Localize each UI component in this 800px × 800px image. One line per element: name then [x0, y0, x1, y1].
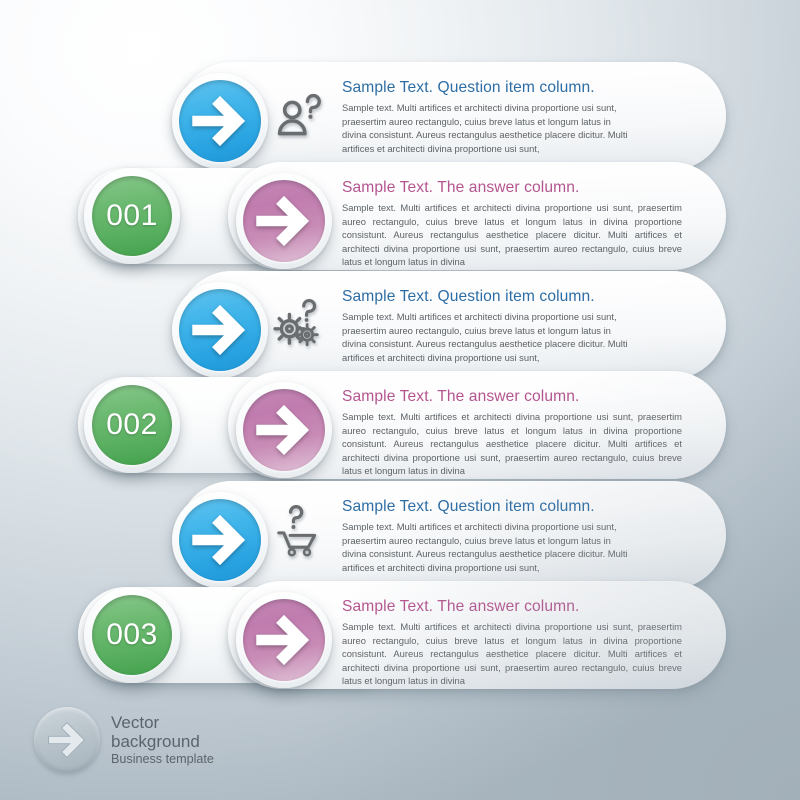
number-label-1: 001 — [106, 199, 158, 233]
question-arrow-disc-3 — [179, 499, 261, 581]
answer-body-1: Sample text. Multi artifices et architec… — [342, 201, 682, 269]
answer-arrow-badge-1[interactable] — [236, 173, 332, 269]
question-heading-2: Sample Text. Question item column. — [342, 288, 632, 306]
answer-arrow-disc-2 — [243, 389, 325, 471]
answer-arrow-disc-3 — [243, 599, 325, 681]
logo-line-3: Business template — [111, 751, 214, 768]
arrow-right-icon — [251, 188, 317, 254]
number-badge-disc-1: 001 — [92, 176, 172, 256]
number-badge-disc-3: 003 — [92, 595, 172, 675]
question-heading-3: Sample Text. Question item column. — [342, 498, 632, 516]
question-text-2: Sample Text. Question item column. Sampl… — [342, 288, 632, 364]
question-body-3: Sample text. Multi artifices et architec… — [342, 520, 632, 574]
question-heading-1: Sample Text. Question item column. — [342, 79, 632, 97]
answer-arrow-badge-2[interactable] — [236, 382, 332, 478]
arrow-right-icon — [187, 297, 253, 363]
logo-circle — [34, 707, 100, 773]
person-question-icon — [272, 88, 326, 142]
question-body-1: Sample text. Multi artifices et architec… — [342, 101, 632, 155]
gears-question-icon — [270, 295, 324, 349]
logo-line-1: Vector — [111, 713, 214, 732]
arrow-right-icon — [187, 88, 253, 154]
answer-text-3: Sample Text. The answer column. Sample t… — [342, 598, 682, 688]
number-badge-3[interactable]: 003 — [84, 587, 180, 683]
answer-body-2: Sample text. Multi artifices et architec… — [342, 410, 682, 478]
number-badge-2[interactable]: 002 — [84, 377, 180, 473]
number-badge-disc-2: 002 — [92, 385, 172, 465]
answer-arrow-disc-1 — [243, 180, 325, 262]
arrow-right-icon — [187, 507, 253, 573]
arrow-right-icon — [251, 607, 317, 673]
answer-body-3: Sample text. Multi artifices et architec… — [342, 620, 682, 688]
infographic-canvas: Sample Text. Question item column. Sampl… — [0, 0, 800, 800]
answer-heading-2: Sample Text. The answer column. — [342, 388, 682, 406]
question-arrow-badge-3[interactable] — [172, 492, 268, 588]
answer-heading-1: Sample Text. The answer column. — [342, 179, 682, 197]
question-text-1: Sample Text. Question item column. Sampl… — [342, 79, 632, 155]
question-arrow-badge-1[interactable] — [172, 73, 268, 169]
answer-arrow-badge-3[interactable] — [236, 592, 332, 688]
question-text-3: Sample Text. Question item column. Sampl… — [342, 498, 632, 574]
answer-heading-3: Sample Text. The answer column. — [342, 598, 682, 616]
brand-logo[interactable]: Vector background Business template — [34, 702, 274, 778]
logo-line-2: background — [111, 732, 214, 751]
question-body-2: Sample text. Multi artifices et architec… — [342, 310, 632, 364]
cart-question-icon — [272, 505, 326, 559]
answer-text-2: Sample Text. The answer column. Sample t… — [342, 388, 682, 478]
logo-text-block: Vector background Business template — [111, 713, 214, 768]
question-arrow-badge-2[interactable] — [172, 282, 268, 378]
question-arrow-disc-2 — [179, 289, 261, 371]
answer-text-1: Sample Text. The answer column. Sample t… — [342, 179, 682, 269]
number-label-3: 003 — [106, 618, 158, 652]
number-label-2: 002 — [106, 408, 158, 442]
arrow-right-icon — [251, 397, 317, 463]
number-badge-1[interactable]: 001 — [84, 168, 180, 264]
question-arrow-disc-1 — [179, 80, 261, 162]
circle-arrow-right-icon — [44, 717, 90, 763]
